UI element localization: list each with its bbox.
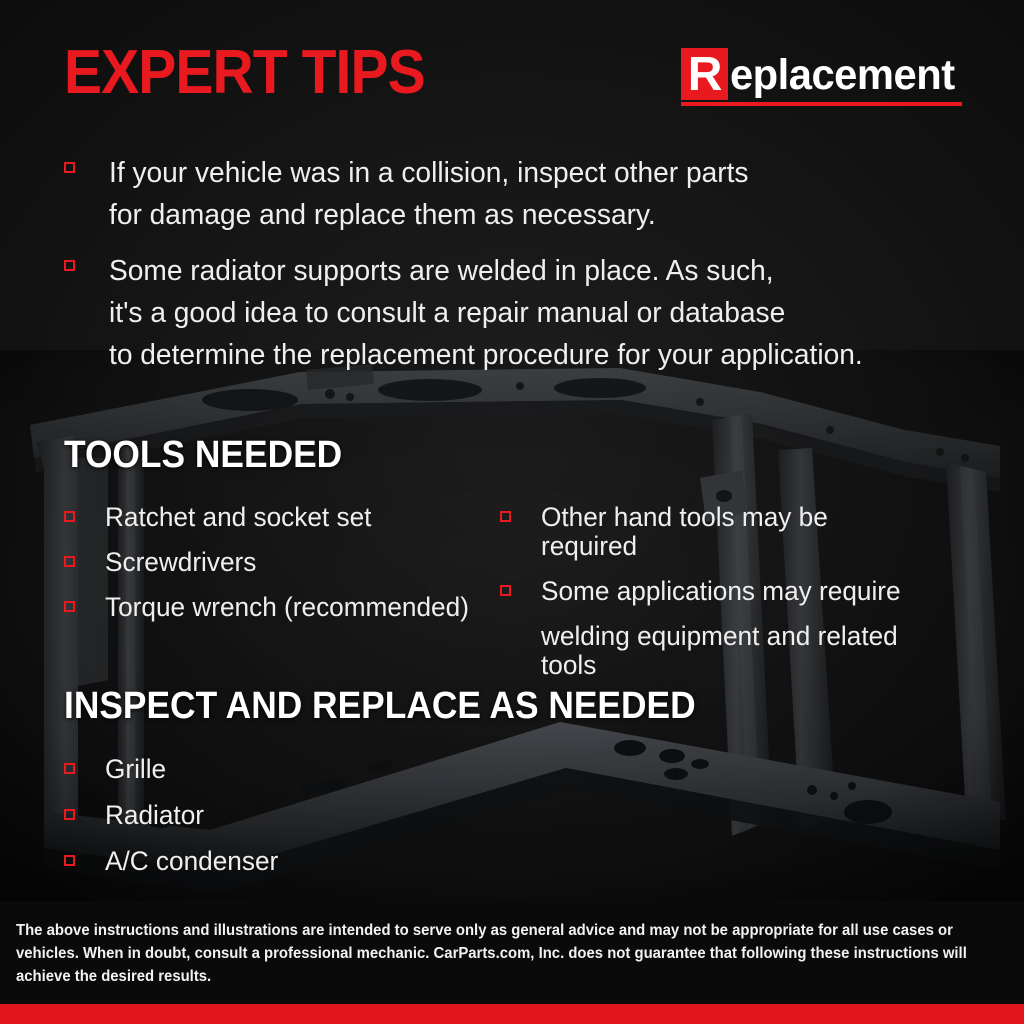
square-bullet-icon [64,601,75,612]
footer-accent-bar [0,1004,1024,1024]
square-bullet-icon [64,763,75,774]
tools-needed-heading: TOOLS NEEDED [64,435,342,475]
list-item: If your vehicle was in a collision, insp… [64,152,964,236]
tool-text: Ratchet and socket set [105,503,371,532]
tools-needed-list: Ratchet and socket set Screwdrivers Torq… [64,503,964,696]
tool-text: welding equipment and related tools [541,622,920,680]
tools-column-right: Other hand tools may be required Some ap… [500,503,932,696]
list-item: Grille [64,755,564,784]
square-bullet-icon [64,260,75,271]
replacement-logo: R eplacement [681,48,962,106]
inspect-item-text: Grille [105,755,166,784]
logo-underline [681,102,962,106]
square-bullet-icon [64,556,75,567]
inspect-item-text: Radiator [105,801,204,830]
tool-text: Other hand tools may be required [541,503,920,561]
list-item: Some radiator supports are welded in pla… [64,250,964,376]
bullet-spacer [500,630,511,641]
page-title: EXPERT TIPS [64,42,425,104]
list-item: Some applications may require [500,577,932,606]
logo-wordmark: eplacement [728,50,955,100]
inspect-item-text: A/C condenser [105,847,278,876]
list-item: Radiator [64,801,564,830]
square-bullet-icon [64,162,75,173]
tool-text: Screwdrivers [105,548,256,577]
footer: The above instructions and illustrations… [0,901,1024,1024]
square-bullet-icon [500,511,511,522]
footer-disclaimer-text: The above instructions and illustrations… [16,919,968,988]
tools-column-left: Ratchet and socket set Screwdrivers Torq… [64,503,496,696]
tool-text: Torque wrench (recommended) [105,593,469,622]
header: EXPERT TIPS R eplacement [0,0,1024,130]
list-item-continuation: welding equipment and related tools [500,622,932,680]
tool-text: Some applications may require [541,577,901,606]
list-item: Other hand tools may be required [500,503,932,561]
logo-badge-letter: R [681,48,729,100]
square-bullet-icon [64,809,75,820]
tip-text: Some radiator supports are welded in pla… [109,250,863,376]
square-bullet-icon [64,855,75,866]
footer-disclaimer-bar: The above instructions and illustrations… [0,901,1024,1004]
square-bullet-icon [64,511,75,522]
list-item: Ratchet and socket set [64,503,496,532]
inspect-replace-heading: INSPECT AND REPLACE AS NEEDED [64,686,696,726]
list-item: Torque wrench (recommended) [64,593,496,622]
square-bullet-icon [500,585,511,596]
list-item: A/C condenser [64,847,564,876]
expert-tips-card: EXPERT TIPS R eplacement If your vehicle… [0,0,1024,1024]
list-item: Screwdrivers [64,548,496,577]
inspect-replace-list: Grille Radiator A/C condenser [64,755,564,893]
expert-tips-list: If your vehicle was in a collision, insp… [64,152,964,390]
tip-text: If your vehicle was in a collision, insp… [109,152,748,236]
